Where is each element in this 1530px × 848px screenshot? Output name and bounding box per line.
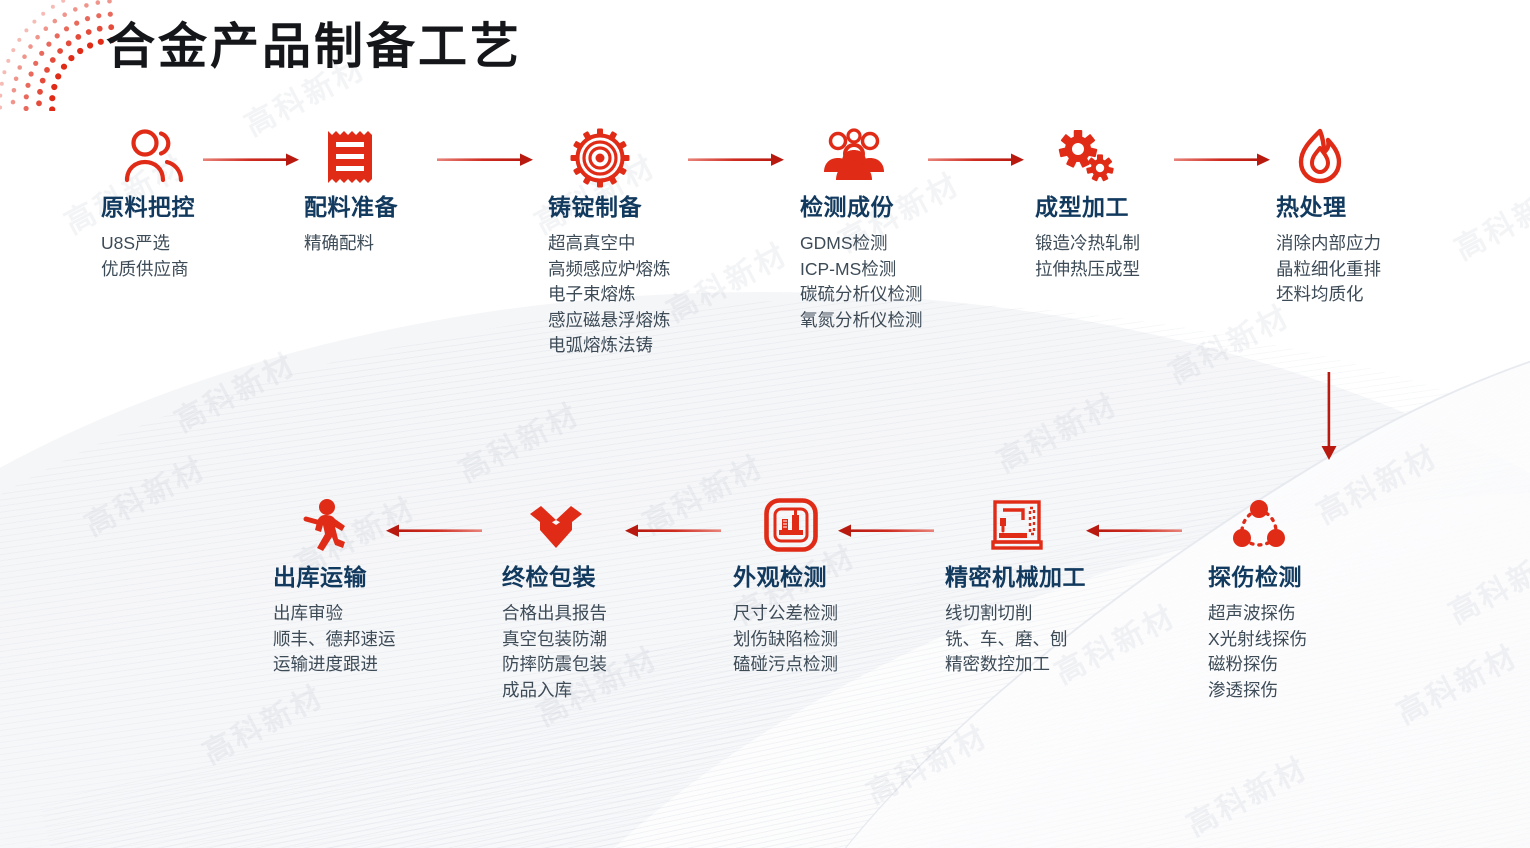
step-detail-line: 防摔防震包装 — [502, 652, 607, 678]
infographic-canvas: 高科新材高科新材高科新材高科新材高科新材高科新材高科新材高科新材高科新材高科新材… — [0, 0, 1530, 848]
step-icon-wrapper-forming-processing — [1057, 128, 1140, 186]
watermark: 高科新材 — [165, 340, 302, 441]
watermark: 高科新材 — [657, 230, 794, 331]
step-title-composition-testing: 检测成份 — [800, 192, 923, 222]
step-icon-wrapper-raw-material-control — [123, 128, 195, 186]
step-detail-line: 碳硫分析仪检测 — [800, 282, 923, 308]
step-title-outbound-shipping: 出库运输 — [273, 562, 396, 592]
step-icon-wrapper-appearance-inspection — [764, 498, 838, 556]
watermark: 高科新材 — [1387, 632, 1524, 733]
step-detail-line: 优质供应商 — [101, 257, 195, 283]
factory-badge-icon — [764, 498, 818, 552]
step-detail-line: 高频感应炉熔炼 — [548, 257, 671, 283]
step-title-final-inspection-packaging: 终检包装 — [502, 562, 607, 592]
step-title-ingot-preparation: 铸锭制备 — [548, 192, 671, 222]
step-icon-wrapper-flaw-detection — [1230, 498, 1307, 556]
step-detail-line: 电子束熔炼 — [548, 282, 671, 308]
step-icon-wrapper-composition-testing — [818, 128, 923, 186]
watermark: 高科新材 — [193, 672, 330, 773]
flow-arrow-1 — [203, 152, 299, 173]
step-detail-list-batching-preparation: 精确配料 — [304, 231, 398, 257]
step-detail-line: 铣、车、磨、刨 — [945, 627, 1086, 653]
flow-arrow-6 — [1086, 523, 1182, 544]
step-icon-wrapper-outbound-shipping — [300, 498, 396, 556]
step-detail-line: 超声波探伤 — [1208, 601, 1307, 627]
step-icon-wrapper-heat-treatment — [1292, 128, 1381, 186]
receipt-document-icon — [324, 128, 376, 186]
step-detail-line: 坯料均质化 — [1276, 282, 1381, 308]
open-box-icon — [527, 498, 585, 552]
step-detail-line: 精确配料 — [304, 231, 398, 257]
process-step-ingot-preparation[interactable]: 铸锭制备超高真空中高频感应炉熔炼电子束熔炼感应磁悬浮熔炼电弧熔炼法铸 — [548, 128, 671, 359]
two-people-outline-icon — [123, 128, 185, 184]
step-detail-line: 磁粉探伤 — [1208, 652, 1307, 678]
gear-target-icon — [570, 128, 630, 188]
flow-arrow-8 — [625, 523, 721, 544]
step-detail-list-precision-machining: 线切割切削铣、车、磨、刨精密数控加工 — [945, 601, 1086, 678]
step-detail-line: 磕碰污点检测 — [733, 652, 838, 678]
step-detail-line: 感应磁悬浮熔炼 — [548, 308, 671, 334]
step-detail-line: 拉伸热压成型 — [1035, 257, 1140, 283]
process-step-batching-preparation[interactable]: 配料准备精确配料 — [304, 128, 398, 257]
watermark: 高科新材 — [75, 444, 212, 545]
step-detail-line: 晶粒细化重排 — [1276, 257, 1381, 283]
flow-arrow-5 — [1174, 152, 1270, 173]
three-dot-triangle-icon — [1230, 498, 1288, 552]
process-step-heat-treatment[interactable]: 热处理消除内部应力晶粒细化重排坯料均质化 — [1276, 128, 1381, 308]
step-title-raw-material-control: 原料把控 — [101, 192, 195, 222]
flow-arrow-9 — [386, 523, 482, 544]
step-title-appearance-inspection: 外观检测 — [733, 562, 838, 592]
step-title-flaw-detection: 探伤检测 — [1208, 562, 1307, 592]
step-title-precision-machining: 精密机械加工 — [945, 562, 1086, 592]
step-title-batching-preparation: 配料准备 — [304, 192, 398, 222]
step-detail-line: 消除内部应力 — [1276, 231, 1381, 257]
step-detail-list-final-inspection-packaging: 合格出具报告真空包装防潮防摔防震包装成品入库 — [502, 601, 607, 703]
flow-arrow-vertical-connector — [1318, 372, 1340, 467]
step-detail-line: 合格出具报告 — [502, 601, 607, 627]
process-step-precision-machining[interactable]: 精密机械加工线切割切削铣、车、磨、刨精密数控加工 — [945, 498, 1086, 678]
step-detail-line: 成品入库 — [502, 678, 607, 704]
step-detail-list-composition-testing: GDMS检测ICP-MS检测碳硫分析仪检测氧氮分析仪检测 — [800, 231, 923, 333]
step-detail-line: 锻造冷热轧制 — [1035, 231, 1140, 257]
step-detail-list-heat-treatment: 消除内部应力晶粒细化重排坯料均质化 — [1276, 231, 1381, 308]
step-detail-list-outbound-shipping: 出库审验顺丰、德邦速运运输进度跟进 — [273, 601, 396, 678]
step-icon-wrapper-ingot-preparation — [570, 128, 671, 186]
walking-person-icon — [300, 498, 350, 554]
flow-arrow-2 — [437, 152, 533, 173]
background-wave-secondary — [297, 324, 1530, 848]
step-icon-wrapper-precision-machining — [989, 498, 1086, 556]
flow-arrow-4 — [928, 152, 1024, 173]
step-detail-line: 尺寸公差检测 — [733, 601, 838, 627]
step-detail-line: 真空包装防潮 — [502, 627, 607, 653]
step-title-forming-processing: 成型加工 — [1035, 192, 1140, 222]
watermark: 高科新材 — [1177, 744, 1314, 845]
watermark: 高科新材 — [1445, 168, 1530, 269]
step-title-heat-treatment: 热处理 — [1276, 192, 1381, 222]
process-step-outbound-shipping[interactable]: 出库运输出库审验顺丰、德邦速运运输进度跟进 — [273, 498, 396, 678]
step-detail-list-raw-material-control: U8S严选优质供应商 — [101, 231, 195, 282]
watermark: 高科新材 — [449, 390, 586, 491]
step-detail-line: X光射线探伤 — [1208, 627, 1307, 653]
watermark: 高科新材 — [857, 712, 994, 813]
cnc-machine-icon — [989, 498, 1045, 554]
people-group-icon — [818, 128, 890, 182]
step-detail-line: 出库审验 — [273, 601, 396, 627]
step-icon-wrapper-batching-preparation — [324, 128, 398, 186]
process-step-flaw-detection[interactable]: 探伤检测超声波探伤X光射线探伤磁粉探伤渗透探伤 — [1208, 498, 1307, 703]
step-detail-line: GDMS检测 — [800, 231, 923, 257]
step-detail-list-flaw-detection: 超声波探伤X光射线探伤磁粉探伤渗透探伤 — [1208, 601, 1307, 703]
flow-arrow-3 — [688, 152, 784, 173]
process-step-final-inspection-packaging[interactable]: 终检包装合格出具报告真空包装防潮防摔防震包装成品入库 — [502, 498, 607, 703]
flow-arrow-7 — [838, 523, 934, 544]
process-step-forming-processing[interactable]: 成型加工锻造冷热轧制拉伸热压成型 — [1035, 128, 1140, 282]
step-detail-line: 电弧熔炼法铸 — [548, 333, 671, 359]
process-step-raw-material-control[interactable]: 原料把控U8S严选优质供应商 — [101, 128, 195, 282]
watermark: 高科新材 — [987, 380, 1124, 481]
flame-icon — [1292, 128, 1348, 186]
step-detail-line: 超高真空中 — [548, 231, 671, 257]
process-step-composition-testing[interactable]: 检测成份GDMS检测ICP-MS检测碳硫分析仪检测氧氮分析仪检测 — [800, 128, 923, 333]
step-detail-line: 氧氮分析仪检测 — [800, 308, 923, 334]
step-detail-line: U8S严选 — [101, 231, 195, 257]
step-detail-list-forming-processing: 锻造冷热轧制拉伸热压成型 — [1035, 231, 1140, 282]
step-icon-wrapper-final-inspection-packaging — [527, 498, 607, 556]
step-detail-line: 划伤缺陷检测 — [733, 627, 838, 653]
page-title: 合金产品制备工艺 — [106, 10, 522, 84]
step-detail-line: ICP-MS检测 — [800, 257, 923, 283]
step-detail-list-ingot-preparation: 超高真空中高频感应炉熔炼电子束熔炼感应磁悬浮熔炼电弧熔炼法铸 — [548, 231, 671, 359]
process-step-appearance-inspection[interactable]: 外观检测尺寸公差检测划伤缺陷检测磕碰污点检测 — [733, 498, 838, 678]
double-gears-icon — [1057, 128, 1115, 184]
step-detail-list-appearance-inspection: 尺寸公差检测划伤缺陷检测磕碰污点检测 — [733, 601, 838, 678]
step-detail-line: 精密数控加工 — [945, 652, 1086, 678]
step-detail-line: 线切割切削 — [945, 601, 1086, 627]
step-detail-line: 渗透探伤 — [1208, 678, 1307, 704]
step-detail-line: 顺丰、德邦速运 — [273, 627, 396, 653]
step-detail-line: 运输进度跟进 — [273, 652, 396, 678]
watermark: 高科新材 — [1439, 532, 1530, 633]
